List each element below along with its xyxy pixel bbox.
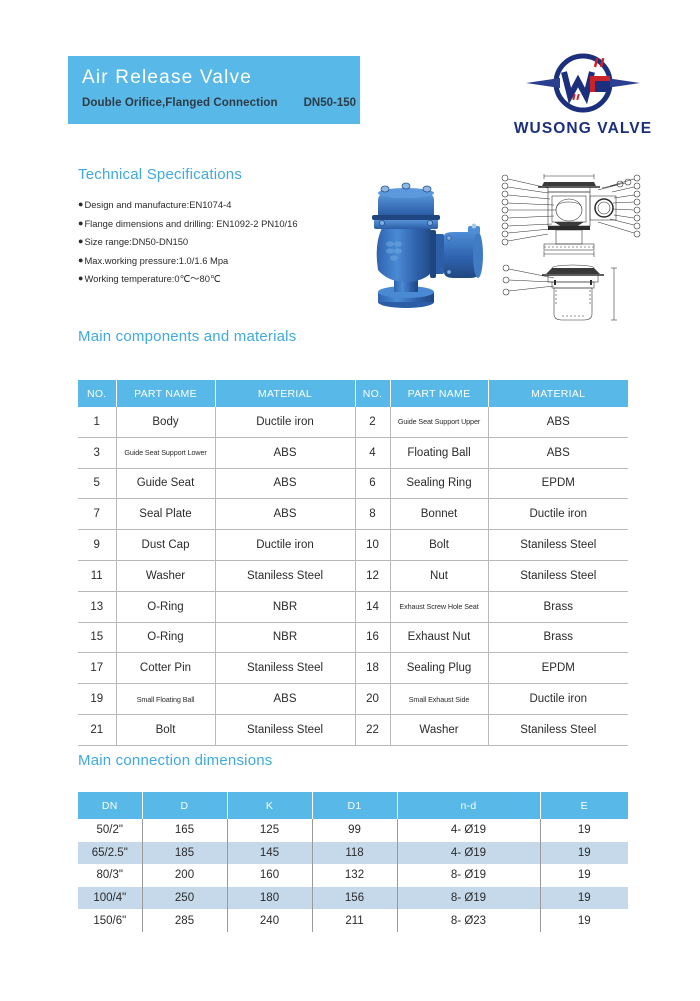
cell-material: Staniless Steel [488,530,628,561]
bullet-icon: ● [78,233,83,251]
cell-dn: 150/6" [78,909,142,932]
cell-e: 19 [540,887,628,910]
cell-material: EPDM [488,468,628,499]
cell-material: Staniless Steel [488,714,628,745]
cell-part-name: Small Floating Ball [116,684,215,715]
cell-part-name: Guide Seat Support Upper [390,407,488,437]
cell-part-name: O-Ring [116,591,215,622]
spec-item: ●Size range:DN50-DN150 [78,233,378,252]
cell-n-d: 8- Ø19 [397,887,540,910]
cell-no: 20 [355,684,390,715]
column-header-dn: DN [78,792,142,819]
column-header-no-1: NO. [78,380,116,407]
cell-material: Brass [488,591,628,622]
cell-no: 17 [78,653,116,684]
cell-d1: 156 [312,887,397,910]
cell-d: 200 [142,864,227,887]
components-table-body: 1BodyDuctile iron2Guide Seat Support Upp… [78,407,628,745]
cell-n-d: 8- Ø19 [397,864,540,887]
column-header-material-1: MATERIAL [215,380,355,407]
cell-no: 11 [78,560,116,591]
table-row: 9Dust CapDuctile iron10BoltStaniless Ste… [78,530,628,561]
table-row: 21BoltStaniless Steel22WasherStaniless S… [78,714,628,745]
cell-no: 7 [78,499,116,530]
cell-material: Staniless Steel [488,560,628,591]
cell-part-name: O-Ring [116,622,215,653]
cell-material: Ductile iron [488,684,628,715]
cell-part-name: Guide Seat [116,468,215,499]
cell-part-name: Small Exhaust Side [390,684,488,715]
cell-dn: 50/2" [78,819,142,842]
cell-material: Staniless Steel [215,653,355,684]
brand-logo: WUSONG VALVE [494,52,672,148]
cell-k: 180 [227,887,312,910]
cell-n-d: 4- Ø19 [397,819,540,842]
column-header-e: E [540,792,628,819]
cell-material: NBR [215,591,355,622]
cell-no: 12 [355,560,390,591]
air-release-valve-photo [368,178,490,310]
cell-no: 8 [355,499,390,530]
cell-d1: 211 [312,909,397,932]
cell-material: Ductile iron [488,499,628,530]
cell-dn: 80/3" [78,864,142,887]
dimensions-table-header-row: DN D K D1 n-d E [78,792,628,819]
table-row: 50/2"165125994- Ø1919 [78,819,628,842]
cell-part-name: Seal Plate [116,499,215,530]
cell-material: ABS [488,437,628,468]
cell-no: 18 [355,653,390,684]
valve-cross-section-drawing [498,172,644,258]
cell-n-d: 4- Ø19 [397,842,540,865]
spec-item: ●Working temperature:0℃～80℃ [78,270,378,289]
table-row: 100/4"2501801568- Ø1919 [78,887,628,910]
column-header-d: D [142,792,227,819]
cell-d: 185 [142,842,227,865]
wusong-valve-logo-icon [494,52,672,118]
cell-no: 9 [78,530,116,561]
cell-part-name: Exhaust Screw Hole Seat [390,591,488,622]
cell-part-name: Sealing Plug [390,653,488,684]
cell-no: 22 [355,714,390,745]
cell-material: Staniless Steel [215,560,355,591]
table-row: 13O-RingNBR14Exhaust Screw Hole SeatBras… [78,591,628,622]
cell-material: Ductile iron [215,530,355,561]
cell-part-name: Exhaust Nut [390,622,488,653]
size-label: DN50-150 [304,97,356,109]
spec-text: Flange dimensions and drilling: EN1092-2… [84,218,297,229]
cell-part-name: Washer [390,714,488,745]
table-row: 7Seal PlateABS8BonnetDuctile iron [78,499,628,530]
title-banner: Air Release Valve Double Orifice,Flanged… [68,56,360,124]
table-row: 3Guide Seat Support LowerABS4Floating Ba… [78,437,628,468]
cell-d: 250 [142,887,227,910]
cell-material: EPDM [488,653,628,684]
cell-e: 19 [540,819,628,842]
cell-dn: 65/2.5" [78,842,142,865]
brand-name: WUSONG VALVE [494,120,672,138]
bullet-icon: ● [78,196,83,214]
cell-k: 160 [227,864,312,887]
column-header-part-name-2: PART NAME [390,380,488,407]
table-row: 150/6"2852402118- Ø2319 [78,909,628,932]
cell-part-name: Bolt [390,530,488,561]
cell-material: Brass [488,622,628,653]
spec-text: Working temperature:0℃～80℃ [84,273,220,284]
bullet-icon: ● [78,252,83,270]
cell-material: ABS [215,684,355,715]
table-row: 17Cotter PinStaniless Steel18Sealing Plu… [78,653,628,684]
table-row: 11WasherStaniless Steel12NutStaniless St… [78,560,628,591]
cell-d1: 132 [312,864,397,887]
cell-material: Ductile iron [215,407,355,437]
cell-part-name: Guide Seat Support Lower [116,437,215,468]
cell-no: 15 [78,622,116,653]
spec-text: Size range:DN50-DN150 [84,236,188,247]
cell-material: ABS [488,407,628,437]
column-header-no-2: NO. [355,380,390,407]
specs-heading: Technical Specifications [78,166,242,183]
cell-no: 1 [78,407,116,437]
column-header-material-2: MATERIAL [488,380,628,407]
cell-no: 21 [78,714,116,745]
cell-material: Staniless Steel [215,714,355,745]
cell-d1: 99 [312,819,397,842]
cell-part-name: Bolt [116,714,215,745]
cell-d: 285 [142,909,227,932]
dimensions-heading: Main connection dimensions [78,752,272,769]
cell-d1: 118 [312,842,397,865]
bullet-icon: ● [78,215,83,233]
cell-d: 165 [142,819,227,842]
table-row: 80/3"2001601328- Ø1919 [78,864,628,887]
spec-item: ●Flange dimensions and drilling: EN1092-… [78,215,378,234]
cell-material: ABS [215,499,355,530]
components-table: NO. PART NAME MATERIAL NO. PART NAME MAT… [78,380,628,746]
cell-k: 145 [227,842,312,865]
column-header-k: K [227,792,312,819]
table-row: 5Guide SeatABS6Sealing RingEPDM [78,468,628,499]
table-row: 15O-RingNBR16Exhaust NutBrass [78,622,628,653]
cell-no: 2 [355,407,390,437]
cell-no: 13 [78,591,116,622]
cell-e: 19 [540,909,628,932]
bullet-icon: ● [78,270,83,288]
dimensions-table-body: 50/2"165125994- Ø191965/2.5"1851451184- … [78,819,628,932]
cell-dn: 100/4" [78,887,142,910]
dimensions-table: DN D K D1 n-d E 50/2"165125994- Ø191965/… [78,792,628,932]
spec-text: Max.working pressure:1.0/1.6 Mpa [84,255,228,266]
cell-e: 19 [540,864,628,887]
components-heading: Main components and materials [78,328,296,345]
cell-k: 125 [227,819,312,842]
cell-n-d: 8- Ø23 [397,909,540,932]
cell-part-name: Floating Ball [390,437,488,468]
table-row: 65/2.5"1851451184- Ø1919 [78,842,628,865]
column-header-part-name-1: PART NAME [116,380,215,407]
cell-part-name: Body [116,407,215,437]
cell-material: ABS [215,468,355,499]
cell-material: NBR [215,622,355,653]
cell-no: 10 [355,530,390,561]
cell-material: ABS [215,437,355,468]
cell-part-name: Nut [390,560,488,591]
column-header-d1: D1 [312,792,397,819]
page-title: Air Release Valve [82,66,360,90]
cell-no: 19 [78,684,116,715]
column-header-n-d: n-d [397,792,540,819]
spec-item: ●Design and manufacture:EN1074-4 [78,196,378,215]
spec-item: ●Max.working pressure:1.0/1.6 Mpa [78,252,378,271]
cell-part-name: Sealing Ring [390,468,488,499]
page-subtitle: Double Orifice,Flanged Connection [82,97,278,109]
cell-no: 3 [78,437,116,468]
table-row: 1BodyDuctile iron2Guide Seat Support Upp… [78,407,628,437]
cell-no: 5 [78,468,116,499]
cell-part-name: Bonnet [390,499,488,530]
cell-k: 240 [227,909,312,932]
cell-no: 16 [355,622,390,653]
cell-no: 14 [355,591,390,622]
cell-no: 6 [355,468,390,499]
cell-part-name: Dust Cap [116,530,215,561]
page-header: Air Release Valve Double Orifice,Flanged… [0,0,700,150]
title-subtitle-row: Double Orifice,Flanged Connection DN50-1… [82,97,360,109]
table-row: 19Small Floating BallABS20Small Exhaust … [78,684,628,715]
specs-list: ●Design and manufacture:EN1074-4 ●Flange… [78,196,378,289]
cell-part-name: Washer [116,560,215,591]
cell-part-name: Cotter Pin [116,653,215,684]
cell-no: 4 [355,437,390,468]
valve-top-detail-drawing [498,258,644,326]
cell-e: 19 [540,842,628,865]
spec-text: Design and manufacture:EN1074-4 [84,199,231,210]
components-table-header-row: NO. PART NAME MATERIAL NO. PART NAME MAT… [78,380,628,407]
